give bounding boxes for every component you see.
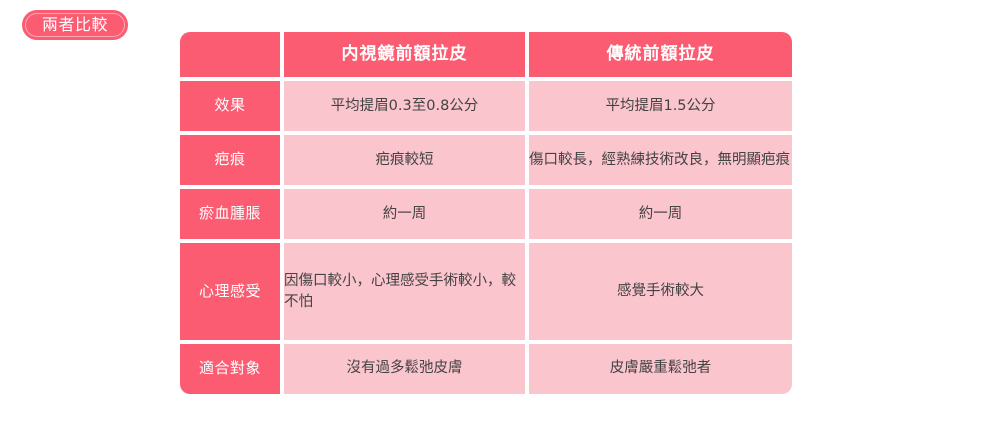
comparison-table: 内視鏡前額拉皮 傳統前額拉皮 效果 平均提眉0.3至0.8公分 平均提眉1.5公… [176, 28, 796, 398]
cell-psychological-traditional: 感覺手術較大 [529, 243, 792, 340]
cell-bruising-traditional: 約一周 [529, 189, 792, 239]
table-row: 瘀血腫脹 約一周 約一周 [180, 189, 792, 239]
column-header-traditional: 傳統前額拉皮 [529, 32, 792, 77]
cell-suitable-traditional: 皮膚嚴重鬆弛者 [529, 344, 792, 394]
table-header: 内視鏡前額拉皮 傳統前額拉皮 [180, 32, 792, 77]
table-row: 適合對象 沒有過多鬆弛皮膚 皮膚嚴重鬆弛者 [180, 344, 792, 394]
row-label-effect: 效果 [180, 81, 280, 131]
row-label-psychological: 心理感受 [180, 243, 280, 340]
column-header-endoscopic: 内視鏡前額拉皮 [284, 32, 525, 77]
cell-bruising-endoscopic: 約一周 [284, 189, 525, 239]
table-row: 效果 平均提眉0.3至0.8公分 平均提眉1.5公分 [180, 81, 792, 131]
cell-suitable-endoscopic: 沒有過多鬆弛皮膚 [284, 344, 525, 394]
comparison-table-wrapper: 内視鏡前額拉皮 傳統前額拉皮 效果 平均提眉0.3至0.8公分 平均提眉1.5公… [180, 32, 780, 402]
cell-scar-traditional: 傷口較長，經熟練技術改良，無明顯疤痕 [529, 135, 792, 185]
row-label-bruising-swelling: 瘀血腫脹 [180, 189, 280, 239]
badge-label: 兩者比較 [42, 17, 108, 33]
comparison-title-badge: 兩者比較 [22, 10, 128, 40]
table-body: 效果 平均提眉0.3至0.8公分 平均提眉1.5公分 疤痕 疤痕較短 傷口較長，… [180, 81, 792, 394]
table-row: 心理感受 因傷口較小，心理感受手術較小，較不怕 感覺手術較大 [180, 243, 792, 340]
cell-scar-endoscopic: 疤痕較短 [284, 135, 525, 185]
table-header-row: 内視鏡前額拉皮 傳統前額拉皮 [180, 32, 792, 77]
row-label-suitable-candidates: 適合對象 [180, 344, 280, 394]
table-corner-cell [180, 32, 280, 77]
row-label-scar: 疤痕 [180, 135, 280, 185]
cell-psychological-endoscopic: 因傷口較小，心理感受手術較小，較不怕 [284, 243, 525, 340]
cell-effect-endoscopic: 平均提眉0.3至0.8公分 [284, 81, 525, 131]
cell-effect-traditional: 平均提眉1.5公分 [529, 81, 792, 131]
table-row: 疤痕 疤痕較短 傷口較長，經熟練技術改良，無明顯疤痕 [180, 135, 792, 185]
